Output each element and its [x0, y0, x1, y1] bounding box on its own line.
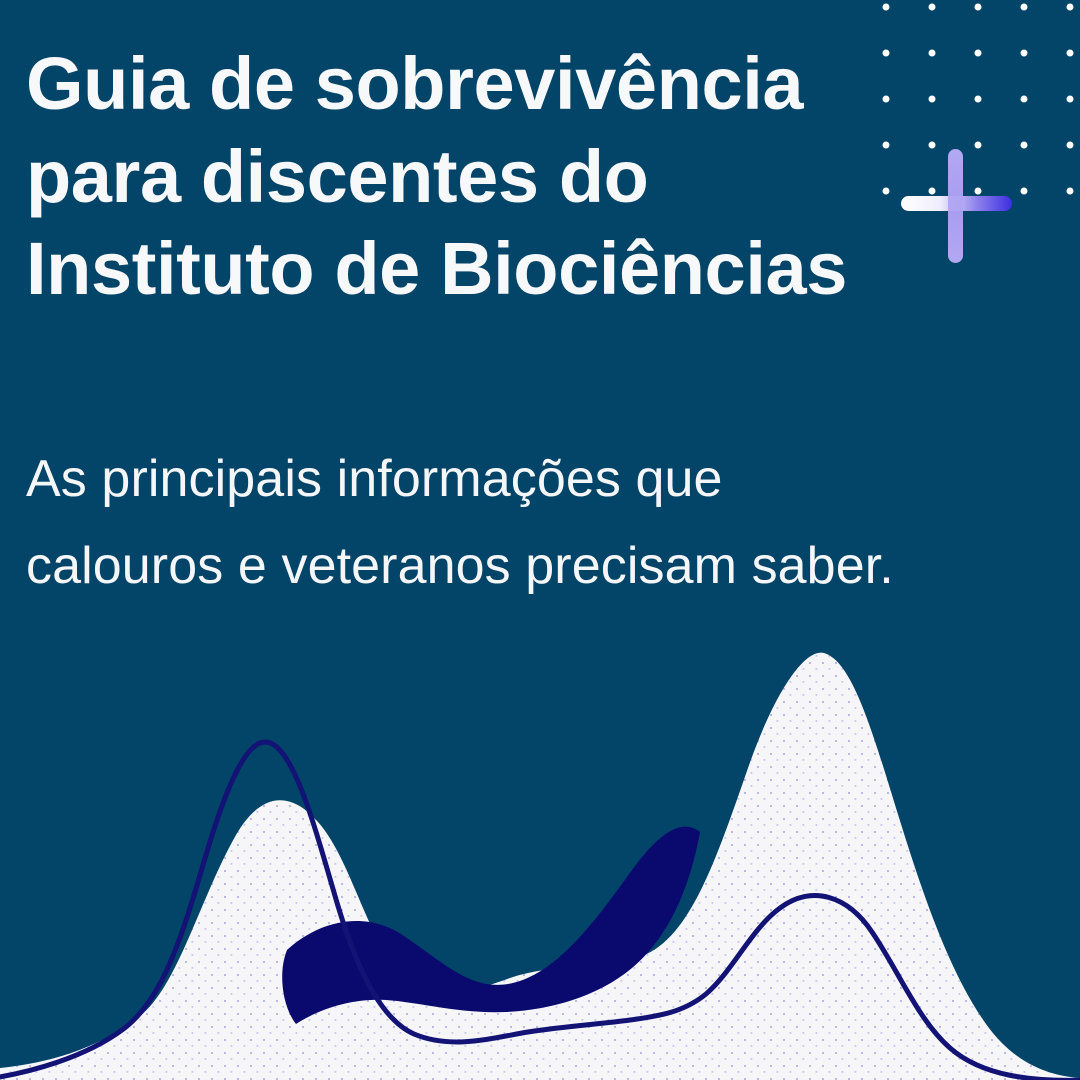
page-subtitle: As principais informações que calouros e…: [26, 436, 1056, 611]
subhead-line-1: As principais informações que: [26, 436, 1056, 523]
navy-line-curve: [0, 742, 1080, 1080]
plus-icon: [896, 146, 1016, 266]
wave-illustration: [0, 620, 1080, 1080]
page-title: Guia de sobrevivência para discentes do …: [26, 38, 896, 316]
navy-band-shape: [282, 827, 700, 1024]
subhead-line-2: calouros e veteranos precisam saber.: [26, 523, 1056, 610]
light-area-shape: [0, 620, 1080, 1080]
poster-canvas: Guia de sobrevivência para discentes do …: [0, 0, 1080, 1080]
headline-line-3: Instituto de Biociências: [26, 223, 896, 316]
dot-grid-icon: [880, 0, 1080, 236]
headline-line-1: Guia de sobrevivência: [26, 38, 896, 131]
headline-line-2: para discentes do: [26, 131, 896, 224]
